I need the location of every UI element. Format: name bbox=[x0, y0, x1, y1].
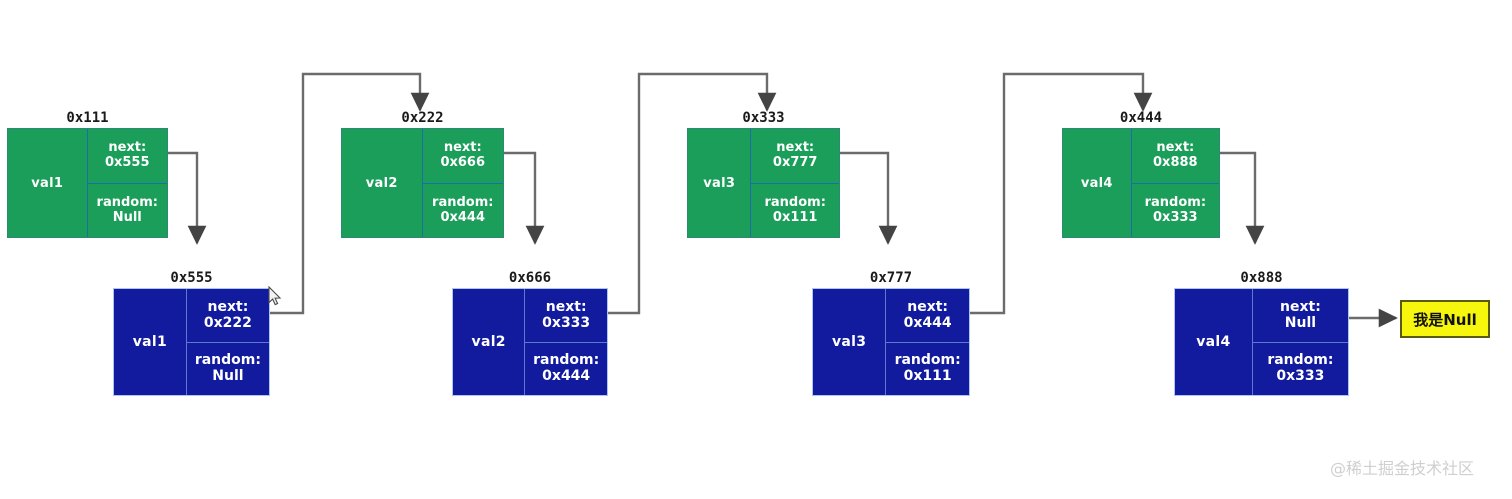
random-value: Null bbox=[212, 369, 243, 385]
next-value: 0x444 bbox=[904, 316, 952, 332]
random-value: 0x444 bbox=[542, 369, 590, 385]
random-label: random: bbox=[1267, 353, 1333, 369]
node-random-cell: random: 0x111 bbox=[751, 183, 839, 237]
node-pointer-cells: next: 0x777 random: 0x111 bbox=[751, 129, 839, 237]
addr-label-0x888: 0x888 bbox=[1174, 270, 1349, 286]
addr-label-0x777: 0x777 bbox=[812, 270, 970, 286]
random-value: 0x111 bbox=[773, 211, 818, 226]
random-label: random: bbox=[1145, 196, 1206, 211]
random-value: 0x333 bbox=[1276, 369, 1324, 385]
node-original-0x222[interactable]: val2 next: 0x666 random: 0x444 bbox=[341, 128, 504, 238]
node-random-cell: random: 0x333 bbox=[1132, 183, 1219, 237]
node-next-cell: next: 0x222 bbox=[187, 289, 269, 342]
addr-label-0x111: 0x111 bbox=[7, 110, 168, 126]
random-label: random: bbox=[432, 196, 493, 211]
next-label: next: bbox=[907, 300, 948, 316]
next-value: 0x777 bbox=[773, 156, 818, 171]
node-pointer-cells: next: Null random: 0x333 bbox=[1253, 289, 1348, 395]
node-pointer-cells: next: 0x333 random: 0x444 bbox=[525, 289, 607, 395]
node-next-cell: next: Null bbox=[1253, 289, 1348, 342]
node-original-0x444[interactable]: val4 next: 0x888 random: 0x333 bbox=[1062, 128, 1220, 238]
next-label: next: bbox=[776, 141, 814, 156]
random-label: random: bbox=[764, 196, 825, 211]
arrow-0x444-next-to-0x888 bbox=[1220, 153, 1255, 243]
addr-label-0x222: 0x222 bbox=[341, 110, 504, 126]
next-value: 0x333 bbox=[542, 316, 590, 332]
next-value: 0x555 bbox=[105, 156, 150, 171]
addr-label-0x555: 0x555 bbox=[113, 270, 270, 286]
node-value-cell: val1 bbox=[114, 289, 187, 395]
node-random-cell: random: Null bbox=[88, 183, 168, 237]
node-pointer-cells: next: 0x555 random: Null bbox=[88, 129, 168, 237]
null-terminal-box: 我是Null bbox=[1400, 300, 1490, 338]
addr-label-0x666: 0x666 bbox=[452, 270, 608, 286]
node-random-cell: random: 0x444 bbox=[525, 342, 607, 395]
addr-label-0x333: 0x333 bbox=[687, 110, 840, 126]
node-random-cell: random: 0x444 bbox=[423, 183, 504, 237]
node-next-cell: next: 0x555 bbox=[88, 129, 168, 183]
node-original-0x333[interactable]: val3 next: 0x777 random: 0x111 bbox=[687, 128, 840, 238]
random-label: random: bbox=[195, 353, 261, 369]
random-value: 0x333 bbox=[1153, 211, 1198, 226]
node-copy-0x777[interactable]: val3 next: 0x444 random: 0x111 bbox=[812, 288, 970, 396]
node-pointer-cells: next: 0x666 random: 0x444 bbox=[423, 129, 504, 237]
next-value: 0x666 bbox=[440, 156, 485, 171]
next-value: 0x888 bbox=[1153, 156, 1198, 171]
random-label: random: bbox=[97, 196, 158, 211]
next-label: next: bbox=[108, 141, 146, 156]
node-next-cell: next: 0x444 bbox=[886, 289, 969, 342]
node-pointer-cells: next: 0x444 random: 0x111 bbox=[886, 289, 969, 395]
node-next-cell: next: 0x777 bbox=[751, 129, 839, 183]
node-copy-0x888[interactable]: val4 next: Null random: 0x333 bbox=[1174, 288, 1349, 396]
arrow-0x333-next-to-0x777 bbox=[840, 153, 888, 243]
node-value-cell: val3 bbox=[813, 289, 886, 395]
next-label: next: bbox=[1280, 300, 1321, 316]
node-next-cell: next: 0x888 bbox=[1132, 129, 1219, 183]
random-value: 0x444 bbox=[440, 211, 485, 226]
random-label: random: bbox=[895, 353, 961, 369]
node-next-cell: next: 0x333 bbox=[525, 289, 607, 342]
node-random-cell: random: 0x111 bbox=[886, 342, 969, 395]
next-label: next: bbox=[444, 141, 482, 156]
node-value-cell: val3 bbox=[688, 129, 751, 237]
random-value: Null bbox=[113, 211, 142, 226]
node-next-cell: next: 0x666 bbox=[423, 129, 504, 183]
random-value: 0x111 bbox=[904, 369, 952, 385]
node-value-cell: val4 bbox=[1175, 289, 1253, 395]
next-value: 0x222 bbox=[204, 316, 252, 332]
node-pointer-cells: next: 0x222 random: Null bbox=[187, 289, 269, 395]
node-value-cell: val1 bbox=[8, 129, 88, 237]
node-original-0x111[interactable]: val1 next: 0x555 random: Null bbox=[7, 128, 168, 238]
watermark-text: @稀土掘金技术社区 bbox=[1330, 455, 1474, 479]
node-random-cell: random: Null bbox=[187, 342, 269, 395]
node-value-cell: val2 bbox=[453, 289, 525, 395]
node-value-cell: val4 bbox=[1063, 129, 1132, 237]
next-label: next: bbox=[1156, 141, 1194, 156]
next-label: next: bbox=[546, 300, 587, 316]
random-label: random: bbox=[533, 353, 599, 369]
next-label: next: bbox=[208, 300, 249, 316]
next-value: Null bbox=[1285, 316, 1316, 332]
node-value-cell: val2 bbox=[342, 129, 423, 237]
diagram-canvas: 0x111 val1 next: 0x555 random: Null 0x22… bbox=[0, 0, 1512, 499]
addr-label-0x444: 0x444 bbox=[1062, 110, 1220, 126]
node-copy-0x555[interactable]: val1 next: 0x222 random: Null bbox=[113, 288, 270, 396]
connector-layer bbox=[0, 0, 1512, 499]
node-random-cell: random: 0x333 bbox=[1253, 342, 1348, 395]
node-copy-0x666[interactable]: val2 next: 0x333 random: 0x444 bbox=[452, 288, 608, 396]
arrow-0x222-next-to-0x666 bbox=[504, 153, 535, 243]
arrow-0x111-next-to-0x555 bbox=[168, 153, 197, 243]
node-pointer-cells: next: 0x888 random: 0x333 bbox=[1132, 129, 1219, 237]
